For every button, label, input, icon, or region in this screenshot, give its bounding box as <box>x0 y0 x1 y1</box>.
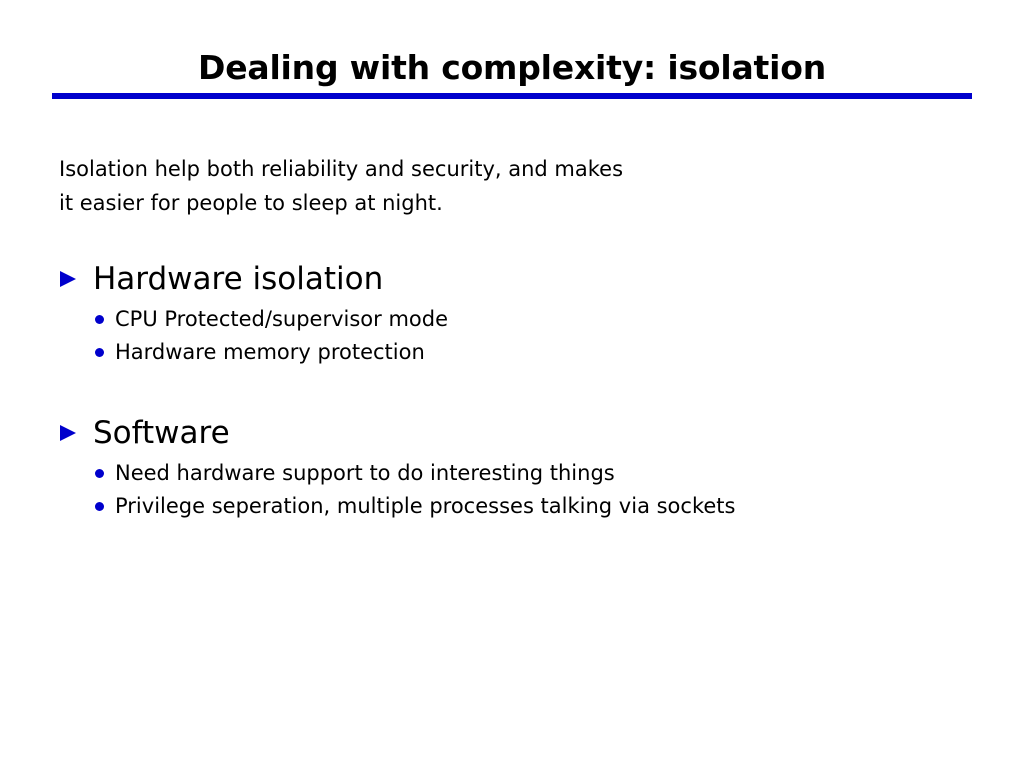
intro-line-2: it easier for people to sleep at night. <box>59 186 919 220</box>
title-underline-rule <box>52 93 972 99</box>
intro-paragraph: Isolation help both reliability and secu… <box>59 152 919 220</box>
list-item: Need hardware support to do interesting … <box>0 457 1024 490</box>
list-item-label: Need hardware support to do interesting … <box>115 461 615 485</box>
section-heading-label: Software <box>93 415 230 451</box>
list-item: Hardware memory protection <box>0 336 1024 369</box>
dot-bullet-icon <box>95 348 104 357</box>
list-item-label: Privilege seperation, multiple processes… <box>115 494 735 518</box>
triangle-bullet-icon <box>60 425 76 441</box>
slide: Dealing with complexity: isolation Isola… <box>0 0 1024 768</box>
list-item: CPU Protected/supervisor mode <box>0 303 1024 336</box>
section-heading-label: Hardware isolation <box>93 261 383 297</box>
section-hardware-isolation: Hardware isolation CPU Protected/supervi… <box>0 258 1024 369</box>
list-item-label: Hardware memory protection <box>115 340 425 364</box>
section-heading-software: Software <box>0 412 1024 454</box>
page-title: Dealing with complexity: isolation <box>52 46 972 90</box>
triangle-bullet-icon <box>60 271 76 287</box>
dot-bullet-icon <box>95 469 104 478</box>
dot-bullet-icon <box>95 315 104 324</box>
intro-line-1: Isolation help both reliability and secu… <box>59 152 919 186</box>
section-software: Software Need hardware support to do int… <box>0 412 1024 523</box>
dot-bullet-icon <box>95 502 104 511</box>
section-heading-hardware-isolation: Hardware isolation <box>0 258 1024 300</box>
list-item: Privilege seperation, multiple processes… <box>0 490 1024 523</box>
list-item-label: CPU Protected/supervisor mode <box>115 307 448 331</box>
